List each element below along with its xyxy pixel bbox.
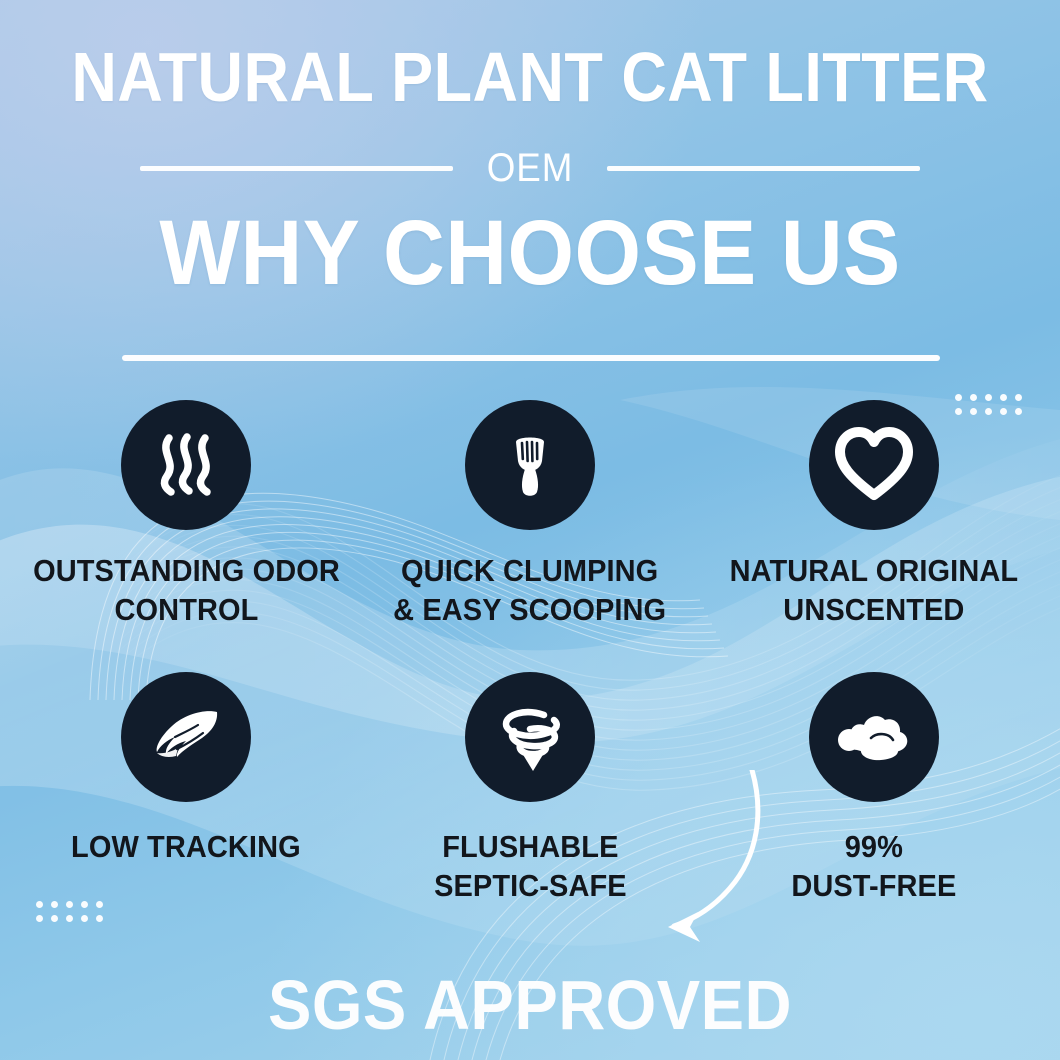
poster-title: NATURAL PLANT CAT LITTER <box>53 40 1007 116</box>
feature-label: LOW TRACKING <box>71 828 301 867</box>
water-swirl-icon <box>465 672 595 802</box>
oem-divider-row: OEM <box>140 148 920 188</box>
oem-rule-left <box>140 166 453 171</box>
oem-label: OEM <box>483 148 577 188</box>
feature-item-dust-free: 99% DUST-FREE <box>702 672 1046 940</box>
feather-icon <box>121 672 251 802</box>
oem-rule-right <box>607 166 920 171</box>
feature-item-natural-unscented: NATURAL ORIGINAL UNSCENTED <box>702 400 1046 672</box>
feature-item-odor-control: OUTSTANDING ODOR CONTROL <box>14 400 358 672</box>
feature-label: FLUSHABLE SEPTIC-SAFE <box>434 828 627 906</box>
dust-cloud-icon <box>809 672 939 802</box>
feature-label: QUICK CLUMPING & EASY SCOOPING <box>393 552 666 630</box>
feature-grid: OUTSTANDING ODOR CONTROL <box>14 400 1046 940</box>
feature-item-low-tracking: LOW TRACKING <box>14 672 358 940</box>
footer-banner-sgs: SGS APPROVED <box>37 967 1023 1044</box>
feature-label: OUTSTANDING ODOR CONTROL <box>33 552 340 630</box>
litter-scoop-icon <box>465 400 595 530</box>
feature-label: 99% DUST-FREE <box>791 828 956 906</box>
poster-subtitle: WHY CHOOSE US <box>37 205 1023 302</box>
steam-waves-icon <box>121 400 251 530</box>
feature-item-quick-clumping: QUICK CLUMPING & EASY SCOOPING <box>358 400 702 672</box>
feature-label: NATURAL ORIGINAL UNSCENTED <box>730 552 1019 630</box>
heart-icon <box>809 400 939 530</box>
poster-canvas: NATURAL PLANT CAT LITTER OEM WHY CHOOSE … <box>0 0 1060 1060</box>
header-divider-rule <box>122 355 940 361</box>
feature-item-flushable-septic-safe: FLUSHABLE SEPTIC-SAFE <box>358 672 702 940</box>
